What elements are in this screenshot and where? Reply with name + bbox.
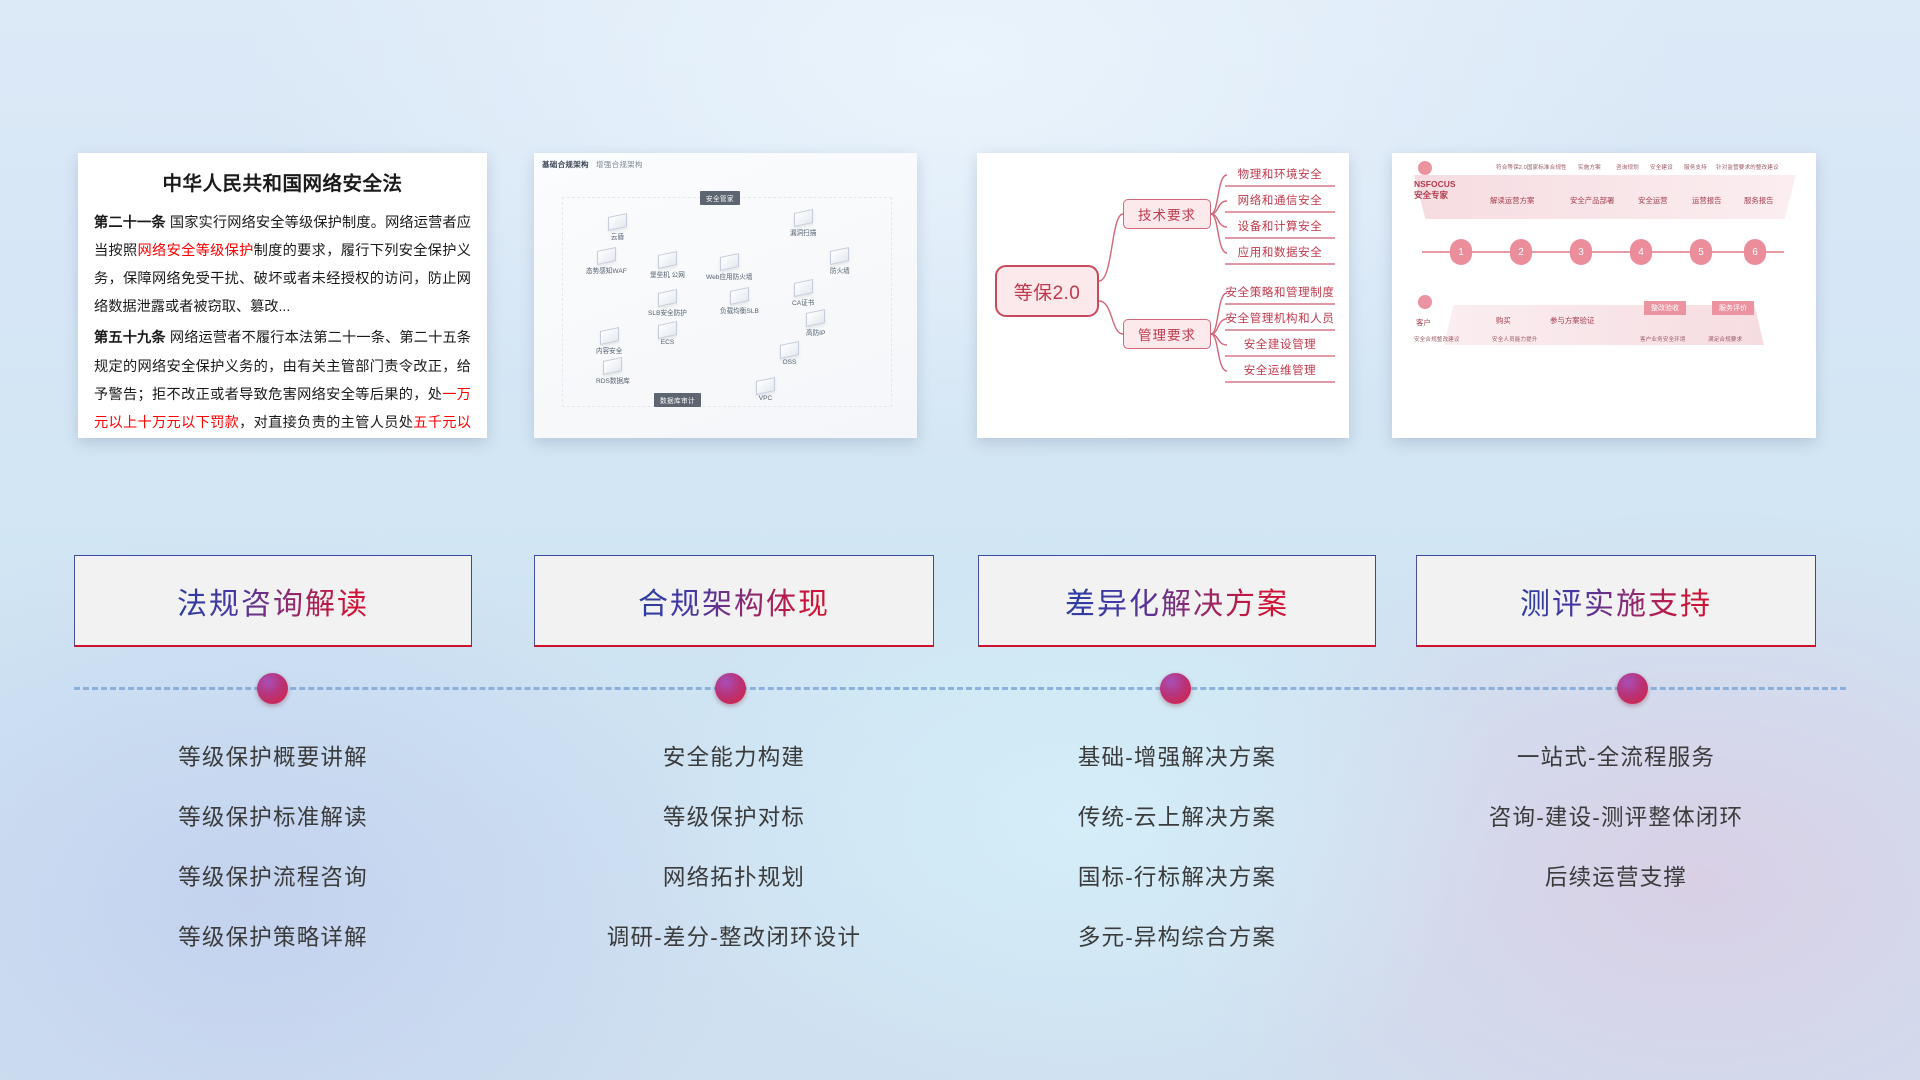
node-label: VPC: [759, 395, 773, 402]
node-box-icon: [720, 253, 739, 271]
roadmap-note: 安全人员能力提升: [1492, 335, 1538, 343]
roadmap-top-item: 咨询规划: [1616, 163, 1639, 171]
detail-item: 咨询-建设-测评整体闭环: [1416, 800, 1816, 832]
mindmap-root: 等保2.0: [995, 265, 1099, 317]
roadmap-step-number: 1: [1450, 239, 1472, 265]
law-body: 中华人民共和国网络安全法 第二十一条 国家实行网络安全等级保护制度。网络运营者应…: [78, 153, 487, 438]
detail-item: 后续运营支撑: [1416, 860, 1816, 892]
pillar-heading-box-2[interactable]: 合规架构体现: [534, 555, 934, 647]
node-ca: CA证书: [792, 281, 814, 307]
node-box-icon: [658, 289, 677, 307]
detail-item: 等级保护标准解读: [74, 800, 472, 832]
article-21-label: 第二十一条: [94, 215, 166, 231]
node-label: 防火墙: [830, 268, 850, 275]
law-article-21: 第二十一条 国家实行网络安全等级保护制度。网络运营者应当按照网络安全等级保护制度…: [94, 209, 471, 321]
pillar-detail-column-4: 一站式-全流程服务 咨询-建设-测评整体闭环 后续运营支撑: [1416, 740, 1816, 920]
node-label: CA证书: [792, 300, 814, 307]
roadmap-note: 客户业务安全环境: [1640, 335, 1686, 343]
node-box-icon: [658, 321, 677, 339]
node-box-icon: [600, 327, 619, 345]
node-box-icon: [603, 357, 622, 375]
mindmap-leaf: 安全运维管理: [1225, 361, 1335, 383]
mindmap-leaf: 安全管理机构和人员: [1225, 309, 1335, 331]
tab-basic[interactable]: 基础合规架构: [542, 160, 589, 169]
roadmap-note: 安全合规整改建议: [1414, 335, 1460, 343]
brand-role: 安全专家: [1414, 190, 1448, 200]
brand-name: NSFOCUS: [1414, 179, 1456, 189]
brand-label: NSFOCUS 安全专家: [1414, 179, 1456, 202]
pillar-heading-box-4[interactable]: 测评实施支持: [1416, 555, 1816, 647]
pillar-detail-column-2: 安全能力构建 等级保护对标 网络拓扑规划 调研-差分-整改闭环设计: [534, 740, 934, 980]
node-label: 态势感知WAF: [586, 268, 627, 275]
roadmap-axis: [1422, 251, 1784, 253]
node-label: RDS数据库: [596, 378, 630, 385]
node-box-icon: [830, 247, 849, 265]
roadmap-top-item: 符合等保2.0国家标准合规性: [1496, 163, 1567, 171]
node-box-icon: [794, 279, 813, 297]
node-label: 漏洞扫描: [790, 230, 816, 237]
roadmap-bottom-item: 购买: [1496, 315, 1511, 326]
thumbnail-row: 中华人民共和国网络安全法 第二十一条 国家实行网络安全等级保护制度。网络运营者应…: [0, 153, 1920, 441]
roadmap-note: 满足合规要求: [1708, 335, 1742, 343]
pillar-heading-label: 测评实施支持: [1520, 579, 1712, 623]
node-box-icon: [730, 287, 749, 305]
customer-avatar-icon: [1418, 295, 1432, 309]
roadmap-top-item: 服务支持: [1684, 163, 1707, 171]
detail-item: 一站式-全流程服务: [1416, 740, 1816, 772]
roadmap-step-number: 4: [1630, 239, 1652, 265]
detail-item: 安全能力构建: [534, 740, 934, 772]
mindmap-canvas: 等保2.0 技术要求 管理要求 物理和环境安全 网络和通信安全 设备和计算安全 …: [977, 153, 1349, 438]
node-antiddos: 高防IP: [806, 311, 825, 337]
node-waf: Web应用防火墙: [706, 255, 752, 281]
mindmap-leaf: 设备和计算安全: [1225, 217, 1335, 239]
architecture-tabs[interactable]: 基础合规架构 增强合规架构: [542, 159, 643, 170]
node-label: SLB安全防护: [648, 310, 687, 317]
node-label: 云盾: [611, 234, 624, 241]
node-chip-main: 安全管家: [700, 191, 740, 205]
node-firewall: 防火墙: [830, 249, 850, 275]
node-box-icon: [794, 209, 813, 227]
timeline-track: [74, 687, 1846, 691]
roadmap-card[interactable]: NSFOCUS 安全专家 符合等保2.0国家标准合规性 实施方案 咨询规划 安全…: [1392, 153, 1816, 438]
roadmap-stage-label: 运营报告: [1692, 195, 1722, 206]
pillar-detail-column-1: 等级保护概要讲解 等级保护标准解读 等级保护流程咨询 等级保护策略详解: [74, 740, 472, 980]
pillar-detail-column-3: 基础-增强解决方案 传统-云上解决方案 国标-行标解决方案 多元-异构综合方案: [978, 740, 1376, 980]
mindmap-branch-management: 管理要求: [1123, 319, 1211, 349]
detail-item: 基础-增强解决方案: [978, 740, 1376, 772]
node-label: Web应用防火墙: [706, 274, 752, 281]
article-59-text-2: ，对直接负责的主管人员处: [239, 415, 413, 431]
pillar-heading-box-1[interactable]: 法规咨询解读: [74, 555, 472, 647]
law-text-card[interactable]: 中华人民共和国网络安全法 第二十一条 国家实行网络安全等级保护制度。网络运营者应…: [78, 153, 487, 438]
expert-avatar-icon: [1418, 161, 1432, 175]
node-label: 高防IP: [806, 330, 825, 337]
roadmap-bottom-item: 参与方案验证: [1550, 315, 1594, 326]
node-ecs: ECS: [658, 323, 677, 346]
roadmap-step-number: 5: [1690, 239, 1712, 265]
mindmap-leaf: 网络和通信安全: [1225, 191, 1335, 213]
roadmap-top-item: 实施方案: [1578, 163, 1601, 171]
timeline-dot-1[interactable]: [257, 673, 288, 704]
pillar-heading-box-3[interactable]: 差异化解决方案: [978, 555, 1376, 647]
roadmap-step-number: 6: [1744, 239, 1766, 265]
node-label: ECS: [661, 339, 675, 346]
roadmap-stage-label: 安全产品部署: [1570, 195, 1614, 206]
detail-item: 传统-云上解决方案: [978, 800, 1376, 832]
pillar-heading-label: 合规架构体现: [638, 579, 830, 623]
roadmap-step-number: 2: [1510, 239, 1532, 265]
pillar-heading-label: 差异化解决方案: [1065, 579, 1289, 623]
node-oss: OSS: [780, 343, 799, 366]
roadmap-stage-label: 安全运营: [1638, 195, 1668, 206]
node-content-security: 内容安全: [596, 329, 622, 355]
node-box-icon: [806, 309, 825, 327]
node-vulnscan: 漏洞扫描: [790, 211, 816, 237]
detail-item: 国标-行标解决方案: [978, 860, 1376, 892]
roadmap-top-item: 安全建设: [1650, 163, 1673, 171]
detail-item: 调研-差分-整改闭环设计: [534, 920, 934, 952]
node-label: 堡垒机 公网: [650, 272, 685, 279]
node-box-icon: [658, 251, 677, 269]
detail-item: 多元-异构综合方案: [978, 920, 1376, 952]
customer-label: 客户: [1416, 317, 1431, 328]
pillar-heading-row: 法规咨询解读 合规架构体现 差异化解决方案 测评实施支持: [0, 555, 1920, 647]
law-title: 中华人民共和国网络安全法: [94, 167, 471, 196]
tab-enhanced[interactable]: 增强合规架构: [596, 160, 643, 169]
node-box-icon: [780, 341, 799, 359]
pillar-heading-label: 法规咨询解读: [177, 579, 369, 623]
node-vpc: VPC: [756, 379, 775, 402]
roadmap-top-item: 针对监管要求的整改建议: [1716, 163, 1779, 171]
node-slb: 负载均衡SLB: [720, 289, 759, 315]
mindmap-leaf: 安全策略和管理制度: [1225, 283, 1335, 305]
node-box-icon: [597, 247, 616, 265]
roadmap-bottom-item: 服务评价: [1712, 301, 1754, 315]
node-yundun: 云盾: [608, 215, 627, 241]
roadmap-bottom-item: 整改验收: [1644, 301, 1686, 315]
node-label: 负载均衡SLB: [720, 308, 759, 315]
mindmap-branch-technical: 技术要求: [1123, 199, 1211, 229]
timeline-dot-3[interactable]: [1160, 673, 1191, 704]
roadmap-step-number: 3: [1570, 239, 1592, 265]
mindmap-card[interactable]: 等保2.0 技术要求 管理要求 物理和环境安全 网络和通信安全 设备和计算安全 …: [977, 153, 1349, 438]
node-label: 内容安全: [596, 348, 622, 355]
timeline-dot-2[interactable]: [715, 673, 746, 704]
roadmap-stage-label: 解读运营方案: [1490, 195, 1534, 206]
node-situational: 态势感知WAF: [586, 249, 627, 275]
mindmap-leaf: 安全建设管理: [1225, 335, 1335, 357]
roadmap-stage-label: 服务报告: [1744, 195, 1774, 206]
mindmap-leaf: 物理和环境安全: [1225, 165, 1335, 187]
detail-item: 等级保护策略详解: [74, 920, 472, 952]
detail-item: 网络拓扑规划: [534, 860, 934, 892]
detail-item: 等级保护流程咨询: [74, 860, 472, 892]
node-label: OSS: [783, 359, 797, 366]
mindmap-leaf: 应用和数据安全: [1225, 243, 1335, 265]
node-slbprotect: SLB安全防护: [648, 291, 687, 317]
node-box-icon: [608, 213, 627, 231]
detail-item: 等级保护概要讲解: [74, 740, 472, 772]
node-box-icon: [756, 377, 775, 395]
detail-item: 等级保护对标: [534, 800, 934, 832]
node-rds: RDS数据库: [596, 359, 630, 385]
timeline-dot-4[interactable]: [1617, 673, 1648, 704]
architecture-diagram-card[interactable]: 基础合规架构 增强合规架构 安全管家 云盾 态势感知WAF 堡垒机 公网 漏洞扫…: [534, 153, 917, 438]
node-chip-dbaudit: 数据库审计: [654, 393, 701, 407]
architecture-canvas: 基础合规架构 增强合规架构 安全管家 云盾 态势感知WAF 堡垒机 公网 漏洞扫…: [534, 153, 917, 438]
article-59-label: 第五十九条: [94, 330, 166, 346]
article-21-highlight: 网络安全等级保护: [138, 243, 254, 259]
node-bastion: 堡垒机 公网: [650, 253, 685, 279]
law-article-59: 第五十九条 网络运营者不履行本法第二十一条、第二十五条规定的网络安全保护义务的，…: [94, 324, 471, 438]
roadmap-canvas: NSFOCUS 安全专家 符合等保2.0国家标准合规性 实施方案 咨询规划 安全…: [1392, 153, 1816, 438]
